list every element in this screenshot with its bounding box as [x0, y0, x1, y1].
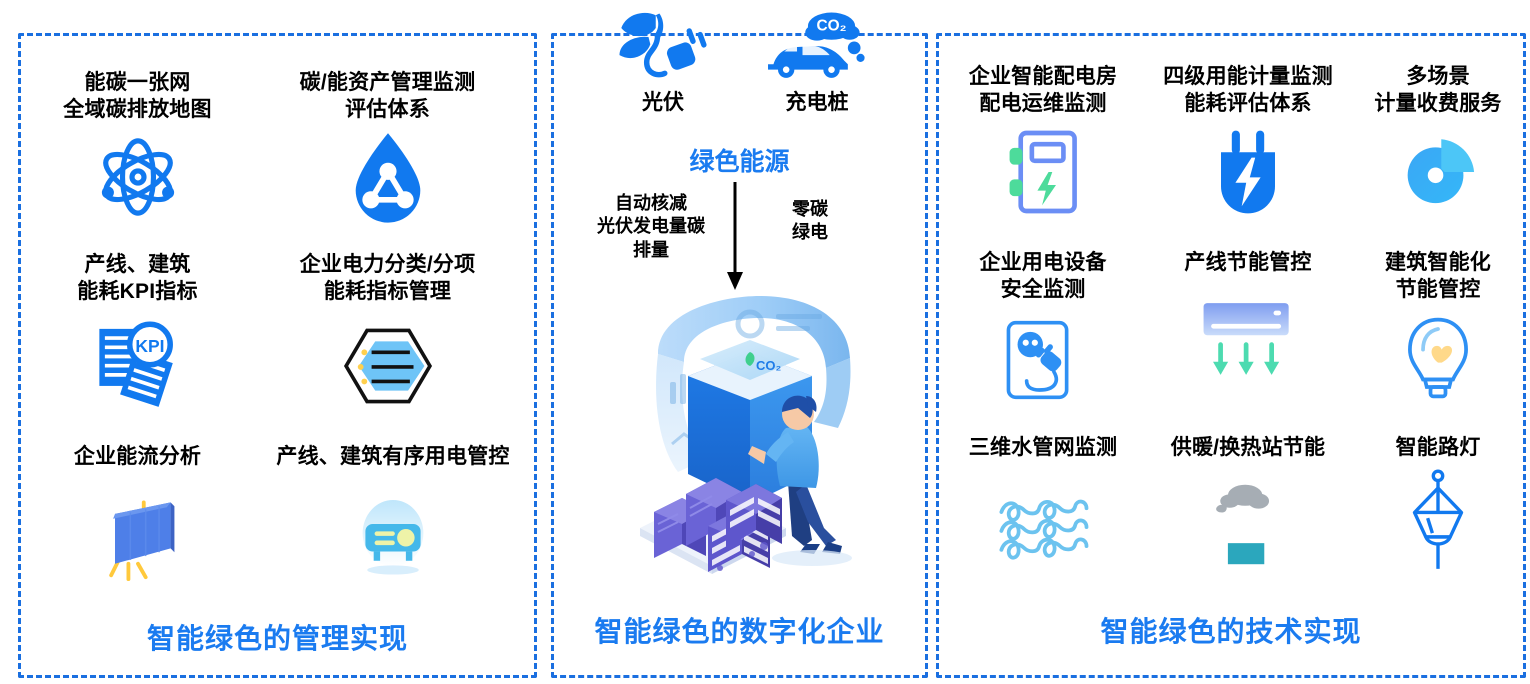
right-cell-3: 多场景 计量收费服务: [1353, 64, 1523, 216]
leaf-plug-icon: [588, 8, 738, 86]
co2-car-icon: CO₂: [742, 8, 892, 86]
svg-text:CO₂: CO₂: [756, 358, 782, 373]
left-cell-2: 碳/能资产管理监测 评估体系: [265, 70, 510, 222]
right-cell-6-label: 建筑智能化 节能管控: [1353, 250, 1523, 304]
right-cell-8: 供暖/换热站节能: [1148, 435, 1348, 572]
right-cell-4-label: 企业用电设备 安全监测: [943, 250, 1143, 304]
annotation-left: 自动核减 光伏发电量碳 排量: [586, 192, 716, 262]
right-cell-8-label: 供暖/换热站节能: [1148, 435, 1348, 462]
svg-text:CO₂: CO₂: [817, 18, 847, 35]
right-cell-9: 智能路灯: [1353, 435, 1523, 568]
air-conditioner-icon: [1148, 295, 1348, 383]
right-panel-title: 智能绿色的技术实现: [936, 610, 1526, 650]
solar-panel-icon: [35, 487, 240, 583]
steam-heat-icon: [1148, 476, 1348, 572]
socket-plug-icon: [943, 316, 1143, 404]
left-cell-6-label: 产线、建筑有序用电管控: [258, 444, 528, 471]
left-cell-5: 企业能流分析: [35, 444, 240, 583]
left-cell-5-label: 企业能流分析: [35, 444, 240, 471]
left-cell-3: 产线、建筑 能耗KPI指标: [35, 252, 240, 410]
right-cell-5-label: 产线节能管控: [1148, 250, 1348, 277]
right-cell-1-label: 企业智能配电房 配电运维监测: [943, 64, 1143, 118]
water-waves-icon: [943, 486, 1143, 574]
right-cell-2: 四级用能计量监测 能耗评估体系: [1148, 64, 1348, 216]
street-lamp-icon: [1353, 472, 1523, 568]
power-plug-bolt-icon: [1148, 128, 1348, 216]
left-cell-6: 产线、建筑有序用电管控: [258, 444, 528, 583]
digital-enterprise-illustration: CO₂: [600, 296, 890, 596]
center-source-charging: CO₂ 充电桩: [742, 8, 892, 116]
right-cell-1: 企业智能配电房 配电运维监测: [943, 64, 1143, 216]
right-cell-3-label: 多场景 计量收费服务: [1353, 64, 1523, 118]
controller-device-icon: [258, 487, 528, 583]
right-cell-5: 产线节能管控: [1148, 250, 1348, 383]
left-cell-1-label: 能碳一张网 全域碳排放地图: [35, 70, 240, 124]
center-source-charging-label: 充电桩: [742, 90, 892, 116]
right-cell-2-label: 四级用能计量监测 能耗评估体系: [1148, 64, 1348, 118]
left-cell-1: 能碳一张网 全域碳排放地图: [35, 70, 240, 222]
green-energy-label: 绿色能源: [551, 142, 928, 178]
donut-chart-icon: [1353, 128, 1523, 216]
right-cell-4: 企业用电设备 安全监测: [943, 250, 1143, 404]
left-cell-3-label: 产线、建筑 能耗KPI指标: [35, 252, 240, 306]
atom-icon: [35, 132, 240, 222]
kpi-documents-icon: KPI: [35, 314, 240, 410]
right-cell-9-label: 智能路灯: [1353, 435, 1523, 462]
water-drop-molecule-icon: [265, 132, 510, 222]
svg-text:KPI: KPI: [135, 336, 164, 356]
infographic-root: 能碳一张网 全域碳排放地图 碳/能资产管理监测 评估体系: [0, 0, 1530, 684]
right-cell-7-label: 三维水管网监测: [943, 435, 1143, 462]
center-panel-title: 智能绿色的数字化企业: [551, 610, 928, 650]
power-cabinet-icon: [943, 128, 1143, 216]
center-source-pv-label: 光伏: [588, 90, 738, 116]
annotation-right: 零碳 绿电: [762, 198, 858, 245]
left-cell-4-label: 企业电力分类/分项 能耗指标管理: [265, 252, 510, 306]
left-panel-title: 智能绿色的管理实现: [18, 617, 537, 657]
down-arrow-icon: [718, 182, 752, 290]
lightbulb-heart-icon: [1353, 314, 1523, 402]
center-source-pv: 光伏: [588, 8, 738, 116]
right-cell-7: 三维水管网监测: [943, 435, 1143, 574]
left-cell-2-label: 碳/能资产管理监测 评估体系: [265, 70, 510, 124]
hexagon-list-icon: [265, 318, 510, 414]
left-cell-4: 企业电力分类/分项 能耗指标管理: [265, 252, 510, 414]
right-cell-6: 建筑智能化 节能管控: [1353, 250, 1523, 402]
